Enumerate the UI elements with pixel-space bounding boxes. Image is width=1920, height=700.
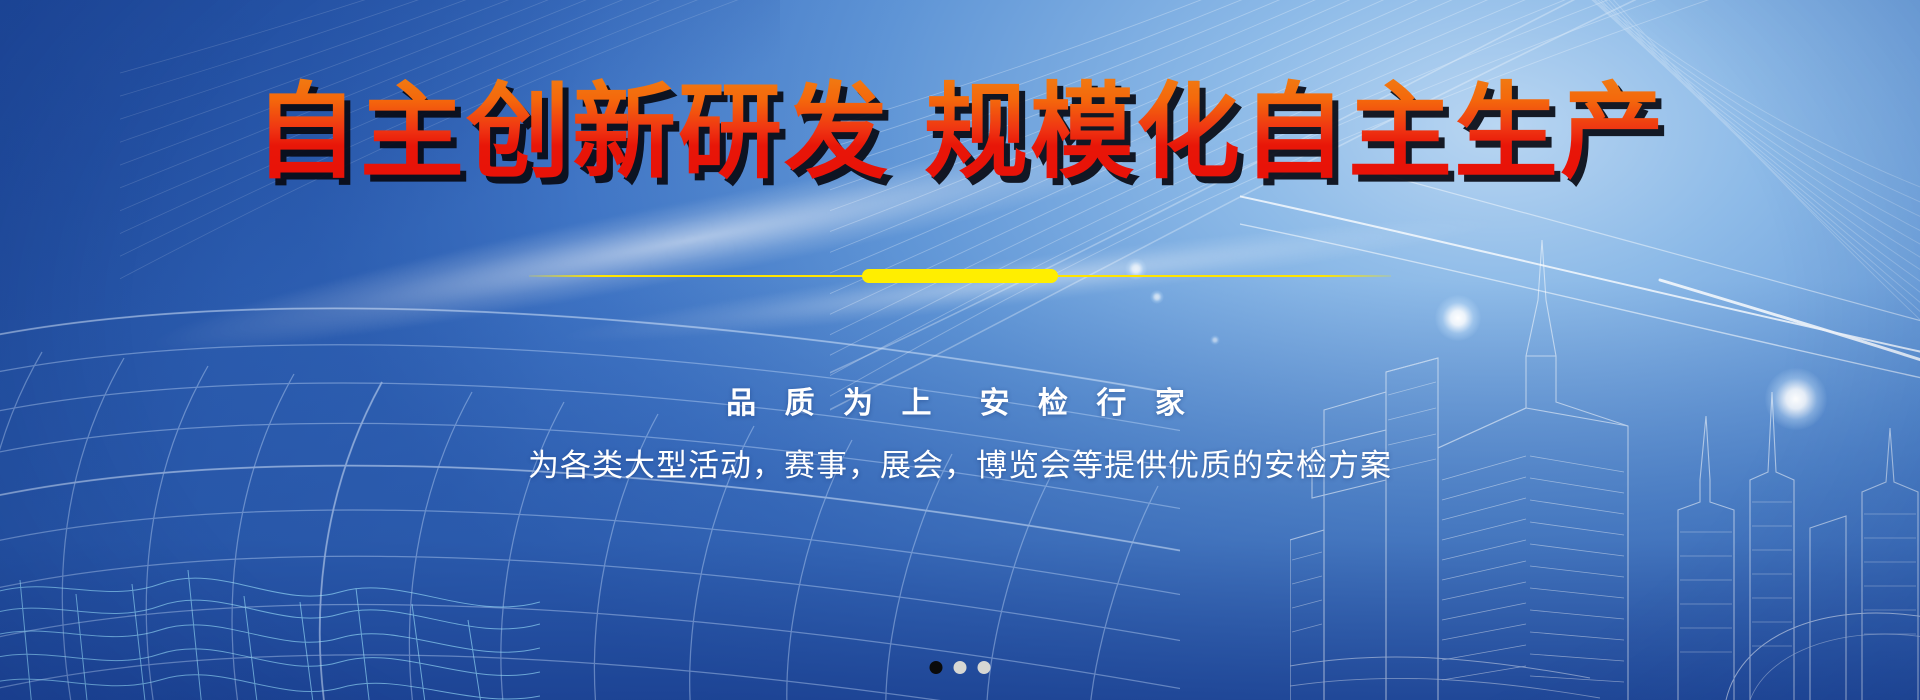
carousel-dots[interactable]: [930, 661, 991, 674]
slogan-text: 品 质 为 上 安 检 行 家: [0, 378, 1920, 422]
title-divider: [529, 268, 1391, 284]
headline-part-2: 规模化自主生产: [924, 71, 1666, 193]
carousel-dot-2[interactable]: [954, 661, 967, 674]
page-title: 自主创新研发规模化自主生产: [0, 74, 1920, 190]
hero-banner: 自主创新研发规模化自主生产 品 质 为 上 安 检 行 家 为各类大型活动，赛事…: [0, 0, 1920, 700]
divider-center-bar: [862, 269, 1058, 283]
headline-part-1: 自主创新研发: [254, 71, 890, 193]
carousel-dot-1[interactable]: [930, 661, 943, 674]
carousel-dot-3[interactable]: [978, 661, 991, 674]
banner-content: 自主创新研发规模化自主生产 品 质 为 上 安 检 行 家 为各类大型活动，赛事…: [0, 0, 1920, 700]
subtitle-text: 为各类大型活动，赛事，展会，博览会等提供优质的安检方案: [0, 440, 1920, 485]
